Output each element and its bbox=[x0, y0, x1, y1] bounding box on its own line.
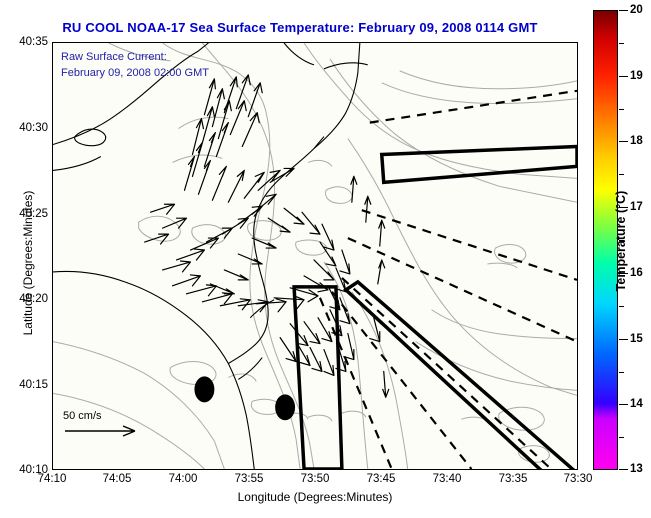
station-markers bbox=[194, 376, 295, 420]
ytick-5: 40:10 bbox=[19, 464, 48, 476]
map-graphics bbox=[53, 43, 577, 469]
annotation-line-2: February 09, 2008 02:00 GMT bbox=[61, 65, 209, 81]
colorbar-tick-13 bbox=[619, 469, 628, 470]
colorbar-minor-tick-6 bbox=[619, 372, 624, 373]
y-axis-label: Latitude (Degrees:Minutes) bbox=[21, 143, 35, 383]
surface-current-vectors bbox=[145, 75, 389, 397]
xtick-1: 74:05 bbox=[103, 473, 132, 485]
colorbar-tick-20 bbox=[619, 10, 628, 11]
transect-polygon-vertical bbox=[294, 287, 342, 469]
colorbar-label-19: 19 bbox=[630, 70, 643, 82]
xtick-7: 73:35 bbox=[499, 473, 528, 485]
velocity-scale-legend: 50 cm/s bbox=[63, 410, 173, 443]
colorbar[interactable]: 20 19 18 17 16 15 14 13 Temperature (°C) bbox=[593, 10, 618, 470]
colorbar-minor-tick-1 bbox=[619, 43, 624, 44]
xtick-2: 74:00 bbox=[169, 473, 198, 485]
arrow-right-icon bbox=[63, 424, 143, 438]
colorbar-label-15: 15 bbox=[630, 333, 643, 345]
colorbar-label-18: 18 bbox=[630, 135, 643, 147]
colorbar-label-16: 16 bbox=[630, 267, 643, 279]
figure-canvas: RU COOL NOAA-17 Sea Surface Temperature:… bbox=[0, 0, 651, 518]
raw-surface-current-annotation: Raw Surface Current: February 09, 2008 0… bbox=[61, 49, 209, 81]
colorbar-label-14: 14 bbox=[630, 398, 643, 410]
xtick-6: 73:40 bbox=[433, 473, 462, 485]
page-title: RU COOL NOAA-17 Sea Surface Temperature:… bbox=[0, 20, 600, 35]
xtick-4: 73:50 bbox=[301, 473, 330, 485]
ytick-1: 40:30 bbox=[19, 122, 48, 134]
xtick-8: 73:30 bbox=[564, 473, 593, 485]
xtick-5: 73:45 bbox=[367, 473, 396, 485]
x-axis-label: Longitude (Degrees:Minutes) bbox=[52, 490, 578, 504]
colorbar-tick-15 bbox=[619, 339, 628, 340]
colorbar-tick-18 bbox=[619, 141, 628, 142]
map-plot-area[interactable]: Raw Surface Current: February 09, 2008 0… bbox=[52, 42, 578, 470]
colorbar-tick-14 bbox=[619, 404, 628, 405]
annotation-line-1: Raw Surface Current: bbox=[61, 49, 209, 65]
colorbar-label-20: 20 bbox=[630, 4, 643, 16]
ytick-0: 40:35 bbox=[19, 36, 48, 48]
colorbar-label-17: 17 bbox=[630, 201, 643, 213]
colorbar-minor-tick-7 bbox=[619, 437, 624, 438]
colorbar-label-13: 13 bbox=[630, 463, 643, 475]
colorbar-minor-tick-2 bbox=[619, 109, 624, 110]
colorbar-tick-19 bbox=[619, 76, 628, 77]
velocity-scale-label: 50 cm/s bbox=[63, 410, 173, 422]
colorbar-title: Temperature (°C) bbox=[614, 151, 628, 331]
xtick-3: 73:55 bbox=[235, 473, 264, 485]
